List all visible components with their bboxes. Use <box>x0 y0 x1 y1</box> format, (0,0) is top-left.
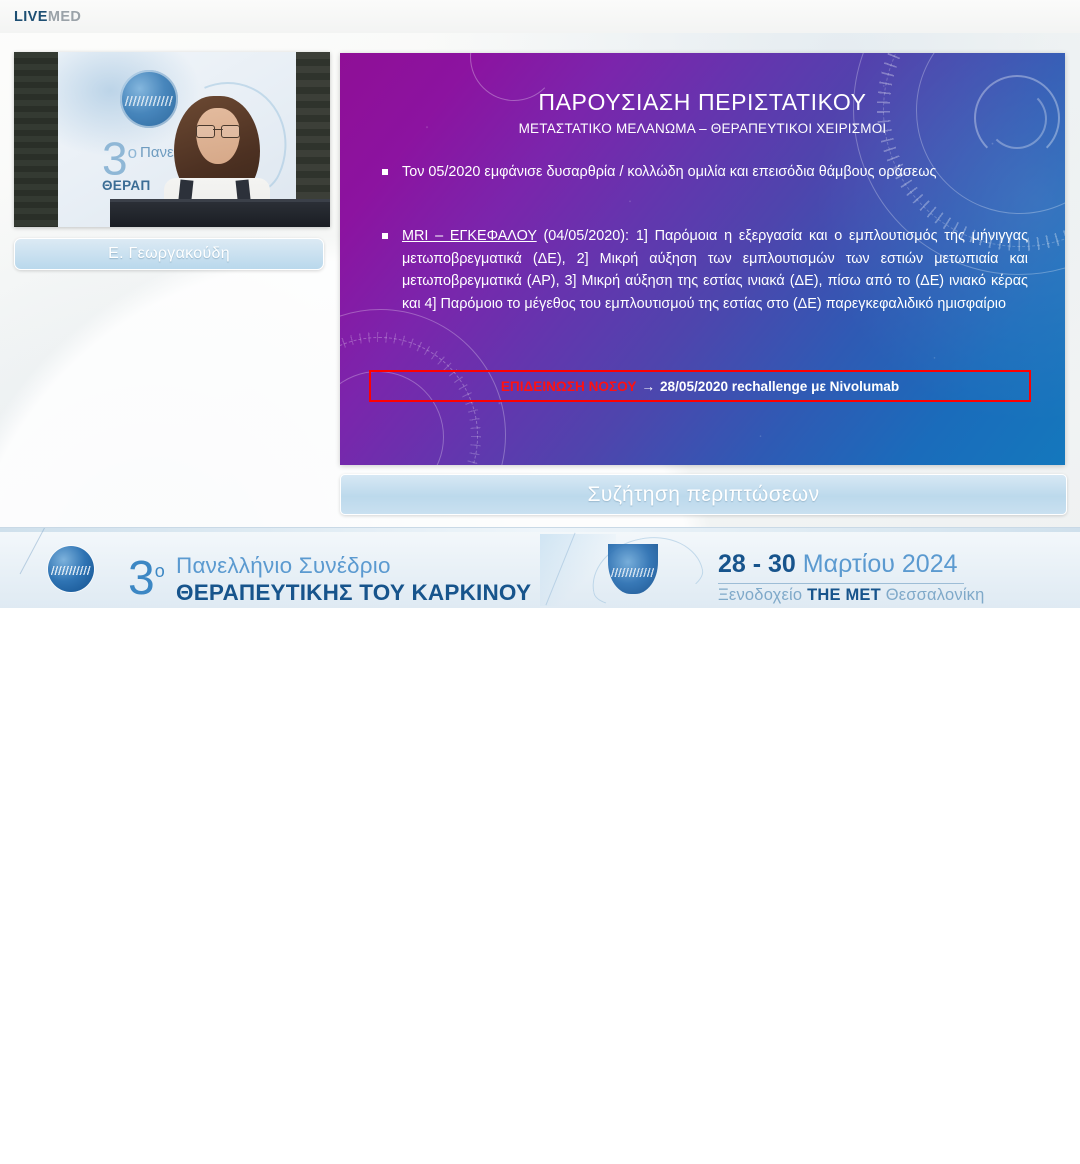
conference-dates-month-year: Μαρτίου 2024 <box>796 550 958 578</box>
venue-name: THE MET <box>807 586 881 604</box>
speaker-name-plate: Ε. Γεωργακούδη <box>14 238 324 270</box>
livemed-logo-med: MED <box>48 9 81 25</box>
bullet-marker-icon <box>382 169 388 175</box>
conference-subtitle: Πανελλήνιο Συνέδριο <box>176 553 391 579</box>
speaker-name: Ε. Γεωργακούδη <box>108 245 230 263</box>
session-title-bar: Συζήτηση περιπτώσεων <box>340 474 1067 515</box>
conference-globe-icon <box>48 546 94 592</box>
livemed-logo-live: LIVE <box>14 9 48 25</box>
disease-progression-callout: ΕΠΙΔΕΙΝΩΣΗ ΝΟΣΟΥ → 28/05/2020 rechalleng… <box>369 370 1031 402</box>
callout-arrow-icon: → <box>641 379 655 394</box>
bullet-2-text: MRI – ΕΓΚΕΦΑΛΟΥ (04/05/2020): 1] Παρόμοι… <box>402 225 1028 315</box>
backdrop-text-line2: ΘΕΡΑΠ <box>102 178 151 193</box>
slide-title: ΠΑΡΟΥΣΙΑΣΗ ΠΕΡΙΣΤΑΤΙΚΟΥ <box>340 89 1065 116</box>
conference-venue: Ξενοδοχείο THE MET Θεσσαλονίκη <box>718 586 985 605</box>
podium <box>110 202 330 227</box>
presentation-slide[interactable]: ΠΑΡΟΥΣΙΑΣΗ ΠΕΡΙΣΤΑΤΙΚΟΥ ΜΕΤΑΣΤΑΤΙΚΟ ΜΕΛΑ… <box>340 53 1065 465</box>
slide-bullet-2: MRI – ΕΓΚΕΦΑΛΟΥ (04/05/2020): 1] Παρόμοι… <box>382 225 1028 315</box>
slide-subtitle: ΜΕΤΑΣΤΑΤΙΚΟ ΜΕΛΑΝΩΜΑ – ΘΕΡΑΠΕΥΤΙΚΟΙ ΧΕΙΡ… <box>340 121 1065 136</box>
footer-divider-rule <box>718 583 964 584</box>
conference-dates-range: 28 - 30 <box>718 550 796 578</box>
bullet-1-text: Τον 05/2020 εμφάνισε δυσαρθρία / κολλώδη… <box>402 161 1028 184</box>
callout-red-text: ΕΠΙΔΕΙΝΩΣΗ ΝΟΣΟΥ <box>501 379 637 394</box>
glasses-left-lens <box>196 125 215 138</box>
bullet-2-underlined-label: MRI – ΕΓΚΕΦΑΛΟΥ <box>402 228 537 244</box>
venue-prefix: Ξενοδοχείο <box>718 586 807 604</box>
conference-footer: 3o Πανελλήνιο Συνέδριο ΘΕΡΑΠΕΥΤΙΚΗΣ ΤΟΥ … <box>0 527 1080 608</box>
slide-bullet-1: Τον 05/2020 εμφάνισε δυσαρθρία / κολλώδη… <box>382 161 1028 184</box>
glasses-right-lens <box>221 125 240 138</box>
session-title: Συζήτηση περιπτώσεων <box>587 483 819 507</box>
video-backdrop: 3o Πανε ΘΕΡΑΠ <box>58 52 296 227</box>
venue-city: Θεσσαλονίκη <box>881 586 985 604</box>
bullet-marker-icon <box>382 233 388 239</box>
conference-dates: 28 - 30 Μαρτίου 2024 <box>718 550 958 578</box>
speaker-glasses <box>196 125 240 136</box>
conference-title: ΘΕΡΑΠΕΥΤΙΚΗΣ ΤΟΥ ΚΑΡΚΙΝΟΥ <box>176 580 531 606</box>
backdrop-edition-number: 3o <box>102 132 137 179</box>
backdrop-text-line1: Πανε <box>140 144 174 161</box>
conference-edition-number: 3o <box>128 548 165 602</box>
callout-white-text: 28/05/2020 rechallenge με Nivolumab <box>660 379 899 394</box>
livemed-logo: LIVEMED <box>14 9 81 25</box>
video-left-curtain <box>14 52 58 227</box>
speaker-video[interactable]: 3o Πανε ΘΕΡΑΠ <box>14 52 330 227</box>
top-header-strip <box>0 0 1080 33</box>
